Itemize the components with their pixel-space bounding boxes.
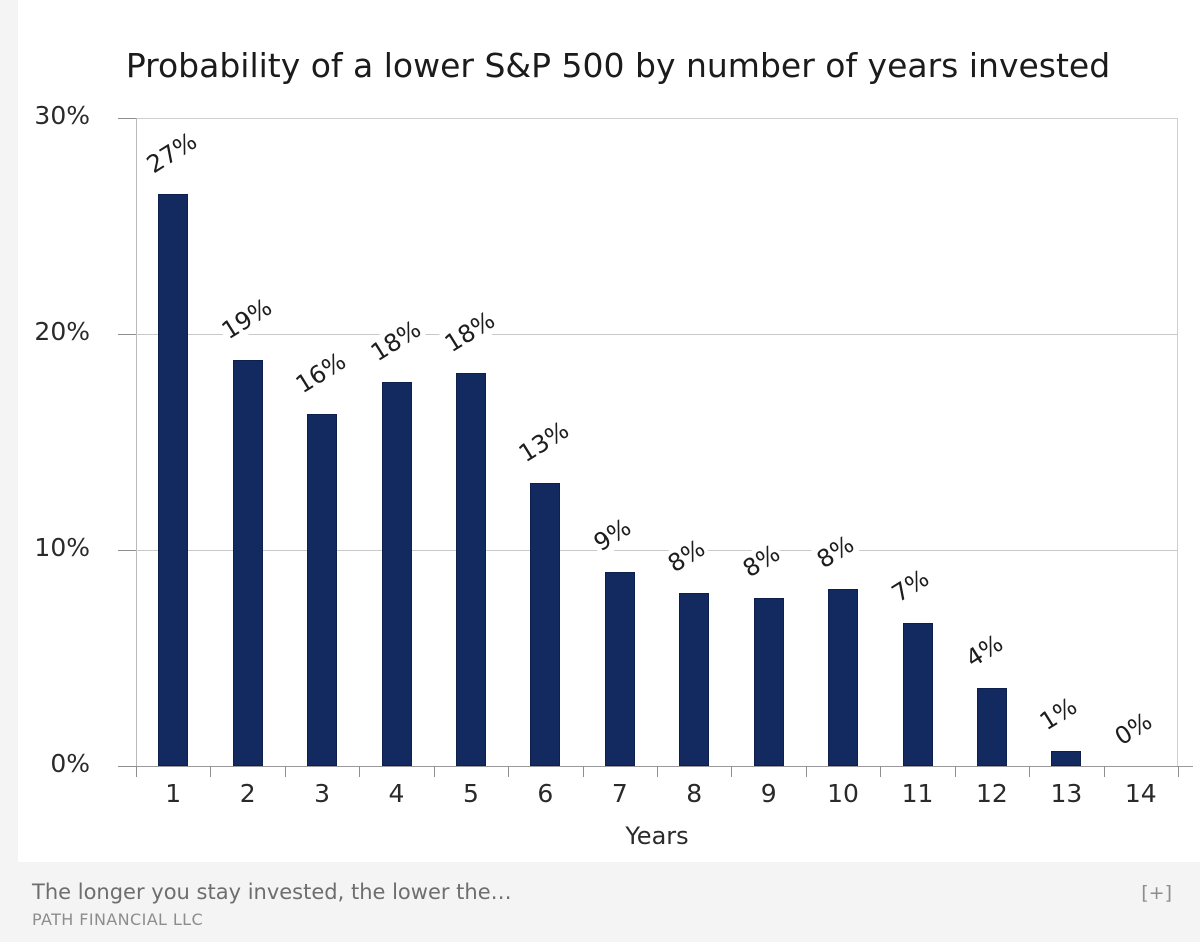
x-tick-mark [359, 766, 360, 777]
y-axis-label: 20% [10, 317, 90, 346]
bar[interactable] [456, 373, 486, 766]
caption-title: The longer you stay invested, the lower … [32, 880, 512, 904]
x-axis-label: 2 [213, 779, 283, 808]
x-axis-title: Years [136, 822, 1178, 850]
x-axis-label: 8 [659, 779, 729, 808]
y-tick-mark [118, 118, 136, 119]
y-axis-label: 10% [10, 533, 90, 562]
x-axis-label: 13 [1031, 779, 1101, 808]
x-tick-mark [806, 766, 807, 777]
x-axis-label: 11 [883, 779, 953, 808]
y-tick-mark [118, 766, 136, 767]
bar[interactable] [679, 593, 709, 766]
expand-button[interactable]: [+] [1141, 882, 1172, 904]
gridline [136, 334, 1178, 335]
x-axis-label: 7 [585, 779, 655, 808]
y-axis-line [136, 118, 137, 767]
bar[interactable] [828, 589, 858, 766]
x-tick-mark [880, 766, 881, 777]
bar[interactable] [754, 598, 784, 766]
x-axis-label: 6 [510, 779, 580, 808]
x-tick-mark [285, 766, 286, 777]
x-tick-mark [657, 766, 658, 777]
caption-area: The longer you stay invested, the lower … [0, 862, 1200, 942]
x-axis-label: 3 [287, 779, 357, 808]
chart-page: Probability of a lower S&P 500 by number… [0, 0, 1200, 942]
x-tick-mark [136, 766, 137, 777]
bar[interactable] [233, 360, 263, 766]
bar[interactable] [530, 483, 560, 766]
plot-area [136, 118, 1178, 766]
x-tick-mark [210, 766, 211, 777]
x-axis-label: 1 [138, 779, 208, 808]
y-tick-mark [118, 550, 136, 551]
bar[interactable] [307, 414, 337, 766]
x-axis-label: 12 [957, 779, 1027, 808]
x-axis-label: 9 [734, 779, 804, 808]
x-tick-mark [731, 766, 732, 777]
y-axis-label: 30% [10, 101, 90, 130]
bar[interactable] [1051, 751, 1081, 766]
bar[interactable] [903, 623, 933, 766]
x-tick-mark [1178, 766, 1179, 777]
y-axis-label: 0% [10, 749, 90, 778]
page-title: Probability of a lower S&P 500 by number… [58, 46, 1178, 85]
x-tick-mark [508, 766, 509, 777]
caption-source: PATH FINANCIAL LLC [32, 910, 203, 929]
x-axis-line [118, 766, 1193, 767]
x-tick-mark [1104, 766, 1105, 777]
y-tick-mark [118, 334, 136, 335]
x-tick-mark [434, 766, 435, 777]
bar[interactable] [158, 194, 188, 766]
x-axis-label: 4 [362, 779, 432, 808]
bar[interactable] [382, 382, 412, 766]
chart-card: Probability of a lower S&P 500 by number… [18, 0, 1200, 862]
gridline [136, 550, 1178, 551]
bar[interactable] [605, 572, 635, 766]
x-axis-label: 10 [808, 779, 878, 808]
x-axis-label: 14 [1106, 779, 1176, 808]
x-tick-mark [583, 766, 584, 777]
bar[interactable] [977, 688, 1007, 766]
x-tick-mark [1029, 766, 1030, 777]
x-tick-mark [955, 766, 956, 777]
x-axis-label: 5 [436, 779, 506, 808]
